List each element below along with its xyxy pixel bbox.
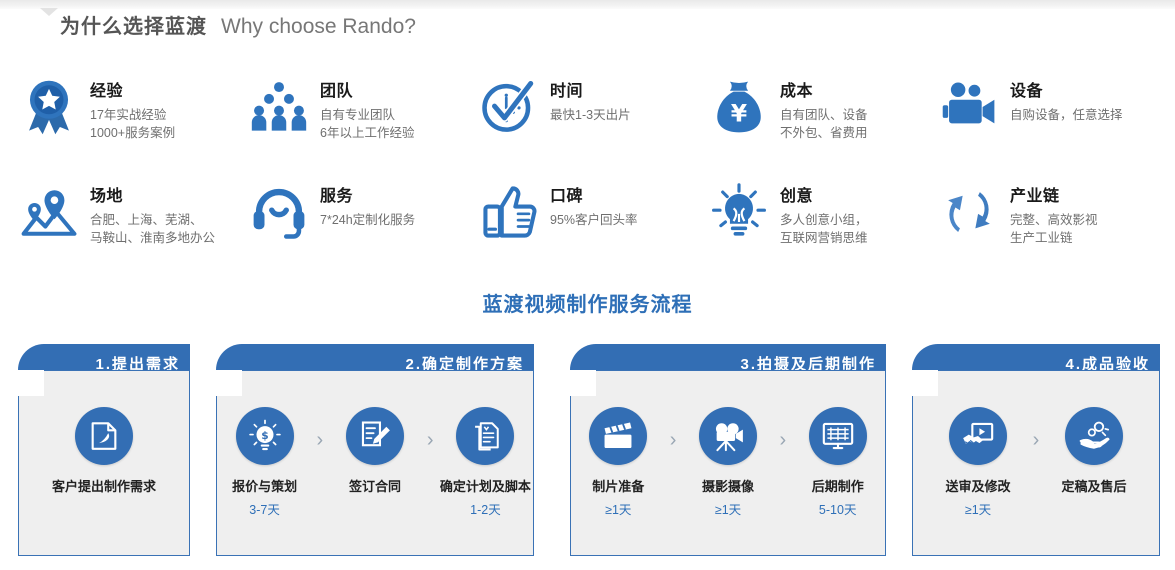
recycle-arrows-icon (938, 181, 1000, 243)
process-card-row: 1.提出需求 客户提出制作需求 2.确定制作方案 $ 报价与策划 3-7天 (0, 344, 1175, 559)
feature-desc: 17年实战经验 1000+服务案例 (90, 106, 175, 142)
page-title-en: Why choose Rando? (221, 15, 416, 39)
feature-grid: 经验 17年实战经验 1000+服务案例 团队 自有专业团队 6年以上工作经验 … (18, 70, 1168, 280)
process-step[interactable]: 定稿及售后 (1044, 407, 1144, 499)
top-gradient-strip (0, 0, 1175, 9)
feature-item: 创意 多人创意小组， 互联网营销思维 (708, 175, 938, 280)
feature-item: 经验 17年实战经验 1000+服务案例 (18, 70, 248, 175)
feature-item: 团队 自有专业团队 6年以上工作经验 (248, 70, 478, 175)
process-card[interactable]: 2.确定制作方案 $ 报价与策划 3-7天 › 签订合同 › (216, 344, 534, 556)
step-label: 摄影摄像 (702, 476, 754, 495)
process-step[interactable]: 签订合同 (327, 407, 422, 499)
feature-title: 创意 (780, 187, 868, 207)
document-pen-icon (75, 407, 133, 465)
handshake-screen-icon (949, 407, 1007, 465)
feature-title: 时间 (550, 82, 631, 102)
feature-desc: 合肥、上海、芜湖、 马鞍山、淮南多地办公 (90, 211, 215, 247)
step-chevron-icon: › (666, 429, 681, 452)
process-step[interactable]: 摄影摄像 ≥1天 (681, 407, 776, 518)
feature-desc: 自有专业团队 6年以上工作经验 (320, 106, 414, 142)
money-bag-icon: ¥ (708, 76, 770, 138)
step-duration: 3-7天 (249, 499, 280, 518)
feature-text: 产业链 完整、高效影视 生产工业链 (1010, 181, 1098, 247)
step-chevron-icon: › (1028, 429, 1044, 452)
top-notch-triangle (40, 8, 58, 16)
page-title-cn: 为什么选择蓝渡 (60, 10, 207, 39)
feature-item: 时间 最快1-3天出片 (478, 70, 708, 175)
feature-title: 团队 (320, 82, 414, 102)
feature-text: 设备 自购设备，任意选择 (1010, 76, 1123, 124)
feature-desc: 完整、高效影视 生产工业链 (1010, 211, 1098, 247)
feature-desc: 多人创意小组， 互联网营销思维 (780, 211, 868, 247)
monitor-edit-icon (809, 407, 867, 465)
step-duration: 1-2天 (470, 499, 501, 518)
feature-item: 服务 7*24h定制化服务 (248, 175, 478, 280)
feature-title: 服务 (320, 187, 415, 207)
thumbs-up-icon (478, 181, 540, 243)
hand-coins-icon (1065, 407, 1123, 465)
movie-camera-icon (699, 407, 757, 465)
step-label: 签订合同 (349, 476, 401, 495)
feature-title: 场地 (90, 187, 215, 207)
process-card[interactable]: 3.拍摄及后期制作 制片准备 ≥1天 › 摄影摄像 ≥1天 › (570, 344, 886, 556)
step-label: 定稿及售后 (1061, 476, 1126, 495)
feature-desc: 自购设备，任意选择 (1010, 106, 1123, 124)
feature-text: 成本 自有团队、设备 不外包、省费用 (780, 76, 868, 142)
step-label: 送审及修改 (945, 476, 1010, 495)
process-card-body: $ 报价与策划 3-7天 › 签订合同 › 确定计划及脚本 1-2天 (216, 370, 534, 556)
clock-check-icon (478, 76, 540, 138)
feature-text: 团队 自有专业团队 6年以上工作经验 (320, 76, 414, 142)
feature-title: 经验 (90, 82, 175, 102)
svg-text:$: $ (261, 429, 268, 442)
step-label: 客户提出制作需求 (52, 476, 156, 495)
process-card[interactable]: 4.成品验收 送审及修改 ≥1天 › 定稿及售后 (912, 344, 1160, 556)
feature-text: 口碑 95%客户回头率 (550, 181, 638, 229)
feature-item: 口碑 95%客户回头率 (478, 175, 708, 280)
script-docs-icon (456, 407, 514, 465)
step-duration: ≥1天 (605, 499, 631, 518)
page-title: 为什么选择蓝渡 Why choose Rando? (60, 10, 416, 39)
lightbulb-icon (708, 181, 770, 243)
process-step[interactable]: 制片准备 ≥1天 (571, 407, 666, 518)
headset-icon (248, 181, 310, 243)
clapperboard-icon (589, 407, 647, 465)
step-duration: 5-10天 (819, 499, 857, 518)
contract-pen-icon (346, 407, 404, 465)
feature-item: 场地 合肥、上海、芜湖、 马鞍山、淮南多地办公 (18, 175, 248, 280)
step-label: 报价与策划 (232, 476, 297, 495)
feature-item: 设备 自购设备，任意选择 (938, 70, 1168, 175)
feature-title: 设备 (1010, 82, 1123, 102)
step-chevron-icon: › (312, 429, 327, 452)
feature-desc: 7*24h定制化服务 (320, 211, 415, 229)
feature-desc: 95%客户回头率 (550, 211, 638, 229)
step-label: 后期制作 (812, 476, 864, 495)
medal-icon (18, 76, 80, 138)
feature-text: 服务 7*24h定制化服务 (320, 181, 415, 229)
step-chevron-icon: › (775, 429, 790, 452)
process-step[interactable]: 确定计划及脚本 1-2天 (438, 407, 533, 518)
feature-item: ¥ 成本 自有团队、设备 不外包、省费用 (708, 70, 938, 175)
video-camera-icon (938, 76, 1000, 138)
process-card-body: 客户提出制作需求 (18, 370, 190, 556)
process-step-list: 客户提出制作需求 (19, 407, 189, 547)
step-label: 确定计划及脚本 (440, 476, 531, 495)
map-pin-icon (18, 181, 80, 243)
feature-text: 创意 多人创意小组， 互联网营销思维 (780, 181, 868, 247)
step-label: 制片准备 (592, 476, 644, 495)
process-step-list: $ 报价与策划 3-7天 › 签订合同 › 确定计划及脚本 1-2天 (217, 407, 533, 547)
process-step-list: 制片准备 ≥1天 › 摄影摄像 ≥1天 › 后期制作 5-10天 (571, 407, 885, 547)
process-card-body: 送审及修改 ≥1天 › 定稿及售后 (912, 370, 1160, 556)
feature-title: 口碑 (550, 187, 638, 207)
svg-text:¥: ¥ (731, 100, 748, 128)
feature-title: 产业链 (1010, 187, 1098, 207)
step-duration: ≥1天 (965, 499, 991, 518)
feature-text: 时间 最快1-3天出片 (550, 76, 631, 124)
feature-item: 产业链 完整、高效影视 生产工业链 (938, 175, 1168, 280)
feature-title: 成本 (780, 82, 868, 102)
process-card-body: 制片准备 ≥1天 › 摄影摄像 ≥1天 › 后期制作 5-10天 (570, 370, 886, 556)
feature-desc: 最快1-3天出片 (550, 106, 631, 124)
process-step[interactable]: 客户提出制作需求 (52, 407, 156, 499)
process-step[interactable]: $ 报价与策划 3-7天 (217, 407, 312, 518)
process-step[interactable]: 后期制作 5-10天 (790, 407, 885, 518)
feature-desc: 自有团队、设备 不外包、省费用 (780, 106, 868, 142)
process-section-title: 蓝渡视频制作服务流程 (0, 288, 1175, 317)
step-chevron-icon: › (423, 429, 438, 452)
bulb-dollar-icon: $ (236, 407, 294, 465)
team-icon (248, 76, 310, 138)
feature-text: 场地 合肥、上海、芜湖、 马鞍山、淮南多地办公 (90, 181, 215, 247)
process-card[interactable]: 1.提出需求 客户提出制作需求 (18, 344, 190, 556)
step-duration: ≥1天 (715, 499, 741, 518)
process-step[interactable]: 送审及修改 ≥1天 (928, 407, 1028, 518)
feature-text: 经验 17年实战经验 1000+服务案例 (90, 76, 175, 142)
process-step-list: 送审及修改 ≥1天 › 定稿及售后 (913, 407, 1159, 547)
